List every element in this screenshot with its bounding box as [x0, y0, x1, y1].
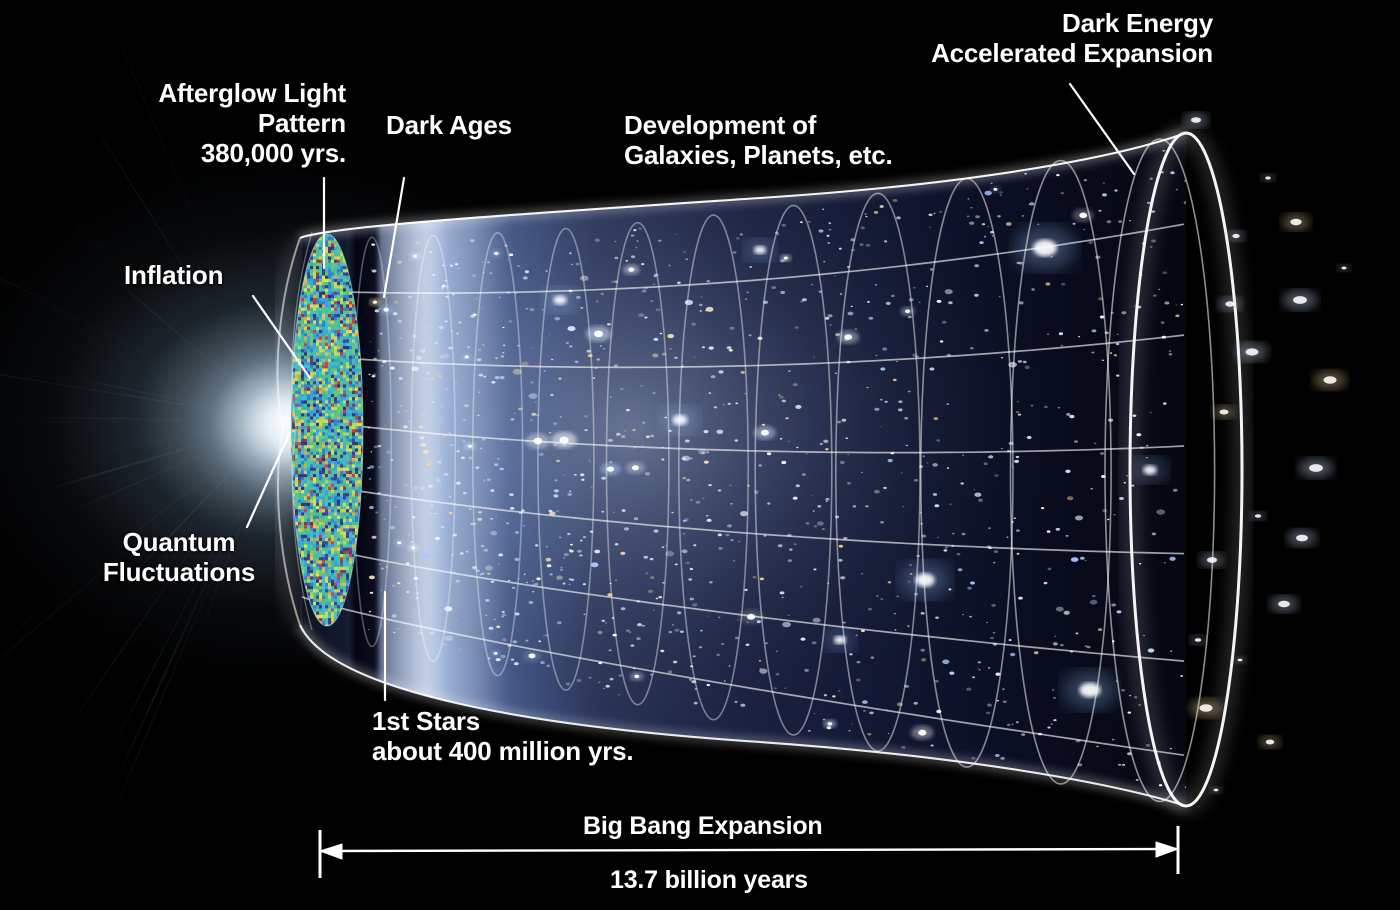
galaxy-speck: [861, 226, 865, 229]
galaxy-speck: [947, 467, 949, 468]
galaxy-speck: [496, 626, 500, 628]
galaxy-speck: [662, 546, 665, 548]
galaxy-speck: [840, 576, 845, 579]
galaxy-speck: [553, 444, 557, 446]
galaxy-speck: [970, 581, 975, 584]
galaxy-speck: [498, 563, 500, 564]
galaxy-speck: [978, 499, 983, 502]
galaxy-speck: [1107, 220, 1112, 223]
galaxy-speck: [675, 234, 677, 235]
galaxy-speck: [814, 568, 817, 570]
cmb-pixel: [292, 580, 295, 584]
galaxy-speck: [1150, 178, 1153, 180]
galaxy-speck: [1091, 488, 1093, 490]
galaxy-speck: [780, 438, 783, 440]
cmb-pixel: [289, 621, 292, 625]
galaxy-speck: [929, 227, 931, 228]
galaxy-speck: [496, 516, 498, 517]
galaxy-speck: [437, 420, 442, 423]
galaxy-speck: [633, 229, 636, 231]
cmb-pixel: [289, 532, 292, 536]
galaxy-speck: [729, 349, 733, 352]
galaxy-speck: [691, 323, 696, 326]
galaxy-speck: [745, 299, 747, 300]
galaxy-speck: [1098, 210, 1101, 212]
galaxy-speck: [397, 582, 400, 584]
galaxy-speck: [746, 621, 748, 622]
galaxy-speck: [693, 544, 696, 546]
galaxy-speck: [423, 450, 429, 454]
galaxy-speck: [549, 573, 552, 575]
universe-timeline-figure: Afterglow Light Pattern 380,000 yrs. Inf…: [0, 0, 1400, 910]
galaxy-speck: [757, 620, 761, 623]
galaxy-speck: [671, 512, 673, 514]
cmb-pixel: [292, 570, 295, 574]
galaxy-speck: [529, 601, 533, 604]
galaxy-speck: [1000, 757, 1005, 760]
galaxy-speck: [535, 544, 538, 546]
galaxy-speck: [962, 455, 964, 456]
galaxy-speck: [392, 585, 395, 587]
galaxy-speck: [814, 525, 818, 527]
galaxy-speck: [993, 632, 996, 634]
galaxy-speck: [893, 379, 897, 381]
galaxy-speck: [506, 522, 509, 524]
galaxy-speck: [857, 661, 861, 663]
outer-galaxy: [1309, 464, 1323, 472]
galaxy-speck: [1152, 533, 1156, 536]
galaxy-speck: [531, 347, 533, 348]
galaxy-speck: [749, 334, 752, 336]
galaxy-speck: [621, 435, 625, 438]
cmb-pixel: [289, 519, 292, 523]
galaxy-speck: [386, 451, 391, 454]
label-development-of-galaxies: Development of Galaxies, Planets, etc.: [624, 110, 893, 170]
galaxy-speck: [896, 361, 898, 362]
galaxy-speck: [999, 296, 1001, 297]
galaxy-speck: [1016, 529, 1020, 531]
galaxy-speck: [460, 552, 464, 555]
galaxy-speck: [1107, 519, 1109, 520]
galaxy-speck: [1139, 563, 1141, 565]
galaxy-speck: [650, 300, 653, 302]
cmb-pixel: [292, 551, 295, 555]
cmb-pixel: [289, 525, 292, 529]
galaxy-speck: [735, 439, 739, 441]
galaxy-speck: [962, 614, 964, 615]
galaxy-speck: [931, 745, 934, 747]
galaxy-speck: [1007, 724, 1010, 726]
galaxy-speck: [856, 635, 858, 636]
galaxy-speck: [1069, 415, 1074, 418]
galaxy-speck: [776, 651, 778, 652]
galaxy-speck: [1122, 764, 1125, 766]
galaxy-speck: [613, 512, 615, 513]
galaxy-speck: [785, 417, 788, 419]
galaxy-speck: [822, 209, 824, 210]
galaxy-speck: [600, 345, 602, 347]
galaxy-speck: [458, 321, 461, 323]
galaxy-speck: [675, 564, 678, 566]
galaxy-speck: [559, 537, 561, 539]
galaxy-speck: [478, 349, 481, 351]
galaxy-speck: [823, 719, 825, 721]
galaxy-speck: [824, 694, 827, 696]
galaxy-speck: [813, 510, 815, 511]
galaxy-speck: [456, 619, 458, 620]
galaxy-speck: [650, 576, 654, 579]
galaxy-speck: [760, 578, 764, 581]
galaxy-speck: [1169, 350, 1171, 352]
galaxy-speck: [969, 222, 974, 225]
galaxy-speck: [690, 457, 693, 459]
galaxy-speck: [984, 329, 988, 332]
galaxy-speck: [1073, 223, 1076, 225]
galaxy-speck: [826, 501, 828, 502]
galaxy-speck: [716, 430, 723, 434]
galaxy-speck: [1019, 301, 1024, 304]
galaxy-speck: [646, 572, 649, 574]
galaxy-speck: [644, 317, 647, 319]
cmb-pixel: [289, 304, 292, 308]
galaxy-speck: [788, 370, 791, 372]
galaxy-speck: [914, 479, 918, 482]
galaxy-speck: [476, 298, 478, 299]
galaxy-speck: [502, 611, 505, 613]
galaxy-speck: [1006, 222, 1012, 226]
galaxy-speck: [556, 460, 560, 462]
galaxy-speck: [856, 679, 861, 682]
galaxy-speck: [652, 283, 655, 285]
galaxy-speck: [682, 456, 690, 461]
galaxy-speck: [436, 477, 440, 479]
galaxy-cluster-core: [754, 246, 766, 254]
galaxy-speck: [556, 576, 563, 580]
galaxy-speck: [558, 378, 561, 380]
galaxy-speck: [637, 623, 642, 626]
galaxy-speck: [462, 440, 465, 442]
cmb-pixel: [292, 279, 295, 283]
galaxy-speck: [1146, 445, 1148, 447]
outer-galaxy: [1341, 267, 1346, 270]
galaxy-core: [397, 541, 401, 544]
galaxy-speck: [969, 616, 972, 618]
galaxy-speck: [489, 627, 494, 630]
galaxy-speck: [442, 547, 444, 548]
galaxy-speck: [699, 304, 703, 306]
galaxy-speck: [511, 418, 515, 420]
galaxy-speck: [560, 567, 563, 569]
galaxy-speck: [381, 568, 384, 570]
galaxy-speck: [566, 683, 571, 686]
galaxy-speck: [636, 637, 640, 640]
galaxy-speck: [849, 730, 851, 731]
galaxy-speck: [921, 649, 925, 652]
cmb-pixel: [289, 327, 292, 331]
galaxy-speck: [650, 558, 654, 560]
galaxy-speck: [502, 638, 506, 641]
galaxy-speck: [1136, 779, 1139, 781]
galaxy-speck: [378, 350, 380, 351]
galaxy-speck: [625, 260, 628, 262]
galaxy-speck: [1184, 201, 1189, 204]
cmb-pixel: [289, 512, 292, 516]
galaxy-speck: [781, 597, 783, 599]
galaxy-speck: [412, 250, 414, 251]
cmb-pixel: [289, 292, 292, 296]
cmb-pixel: [295, 583, 298, 587]
outer-galaxies: [1184, 113, 1351, 794]
galaxy-speck: [800, 586, 803, 588]
galaxy-speck: [1031, 405, 1034, 407]
galaxy-speck: [888, 733, 890, 734]
galaxy-speck: [735, 403, 738, 405]
galaxy-speck: [1180, 675, 1183, 677]
galaxy-speck: [765, 642, 767, 644]
galaxy-speck: [436, 480, 440, 483]
cmb-pixel: [295, 589, 298, 593]
galaxy-speck: [563, 475, 565, 476]
galaxy-speck: [583, 536, 586, 538]
galaxy-speck: [546, 558, 552, 562]
galaxy-speck: [1088, 241, 1093, 244]
galaxy-speck: [482, 262, 484, 263]
galaxy-speck: [1156, 509, 1165, 515]
cmb-pixel: [289, 624, 292, 628]
galaxy-speck: [554, 317, 560, 321]
galaxy-speck: [514, 413, 516, 414]
galaxy-speck: [709, 581, 713, 583]
galaxy-speck: [405, 411, 407, 412]
galaxy-speck: [425, 257, 428, 259]
cmb-pixel: [295, 628, 298, 632]
galaxy-speck: [553, 423, 557, 425]
galaxy-speck: [482, 438, 485, 440]
galaxy-speck: [685, 300, 693, 305]
galaxy-speck: [564, 553, 569, 556]
galaxy-speck: [940, 340, 943, 342]
cmb-pixel: [289, 506, 292, 510]
galaxy-speck: [1061, 192, 1064, 194]
galaxy-speck: [1170, 650, 1172, 651]
galaxy-speck: [767, 452, 771, 455]
galaxy-speck: [933, 493, 937, 496]
galaxy-speck: [1071, 557, 1079, 562]
galaxy-speck: [1044, 406, 1048, 408]
cmb-pixel: [289, 317, 292, 321]
galaxy-cluster-core: [553, 295, 567, 304]
galaxy-speck: [781, 461, 786, 464]
galaxy-speck: [926, 286, 928, 287]
galaxy-speck: [416, 356, 422, 360]
galaxy-speck: [730, 503, 733, 505]
galaxy-speck: [777, 234, 779, 235]
galaxy-speck: [950, 504, 952, 505]
galaxy-speck: [982, 223, 986, 225]
galaxy-speck: [871, 657, 875, 659]
galaxy-speck: [500, 376, 505, 379]
galaxy-speck: [1113, 514, 1115, 515]
galaxy-speck: [704, 461, 709, 464]
galaxy-speck: [1170, 748, 1172, 749]
galaxy-speck: [880, 598, 883, 600]
galaxy-speck: [875, 284, 878, 286]
galaxy-speck: [631, 644, 635, 646]
galaxy-speck: [744, 589, 747, 591]
galaxy-speck: [975, 215, 980, 218]
galaxy-core: [828, 722, 833, 726]
galaxy-speck: [394, 301, 399, 304]
galaxy-speck: [609, 649, 612, 651]
galaxy-speck: [700, 630, 703, 632]
galaxy-speck: [967, 216, 970, 218]
galaxy-speck: [644, 556, 649, 559]
cmb-pixel: [292, 295, 295, 299]
galaxy-speck: [733, 251, 737, 254]
galaxy-speck: [495, 357, 498, 359]
galaxy-speck: [438, 461, 442, 463]
galaxy-speck: [708, 616, 710, 617]
galaxy-speck: [607, 323, 611, 325]
galaxy-speck: [530, 381, 534, 383]
galaxy-speck: [1026, 188, 1028, 189]
galaxy-speck: [1100, 452, 1104, 454]
galaxy-speck: [674, 357, 677, 359]
galaxy-speck: [574, 474, 577, 476]
outer-galaxy: [1278, 601, 1290, 607]
galaxy-speck: [605, 622, 607, 623]
galaxy-speck: [1014, 517, 1017, 519]
galaxy-speck: [461, 456, 465, 459]
galaxy-speck: [653, 610, 655, 611]
galaxy-speck: [435, 537, 440, 540]
galaxy-speck: [584, 415, 587, 417]
galaxy-speck: [1096, 746, 1098, 748]
galaxy-speck: [568, 326, 576, 331]
galaxy-speck: [480, 448, 482, 450]
galaxy-speck: [853, 505, 856, 507]
galaxy-speck: [538, 640, 541, 642]
galaxy-speck: [581, 479, 584, 481]
cmb-pixel: [289, 336, 292, 340]
galaxy-speck: [779, 395, 781, 396]
galaxy-speck: [427, 458, 429, 459]
galaxy-speck: [811, 495, 813, 496]
galaxy-core: [494, 652, 498, 655]
galaxy-speck: [740, 511, 748, 516]
galaxy-speck: [487, 573, 491, 575]
galaxy-speck: [866, 244, 871, 247]
cmb-pixel: [289, 240, 292, 244]
galaxy-speck: [694, 357, 696, 358]
galaxy-speck: [847, 454, 849, 455]
galaxy-speck: [806, 522, 810, 524]
galaxy-speck: [501, 355, 504, 357]
galaxy-speck: [580, 540, 583, 542]
galaxy-speck: [820, 443, 823, 445]
galaxy-speck: [598, 681, 601, 683]
galaxy-speck: [432, 274, 435, 276]
galaxy-speck: [642, 290, 647, 293]
galaxy-core: [784, 257, 788, 260]
galaxy-speck: [509, 320, 512, 322]
galaxy-speck: [539, 453, 544, 456]
galaxy-speck: [437, 499, 439, 500]
galaxy-speck: [517, 265, 520, 267]
cmb-pixel: [289, 535, 292, 539]
galaxy-speck: [839, 545, 843, 548]
galaxy-speck: [702, 346, 705, 348]
galaxy-speck: [449, 512, 453, 514]
galaxy-speck: [1018, 414, 1021, 416]
galaxy-speck: [369, 611, 372, 613]
galaxy-speck: [863, 710, 866, 712]
galaxy-speck: [997, 215, 1001, 217]
galaxy-speck: [557, 621, 562, 624]
galaxy-speck: [523, 525, 525, 526]
galaxy-speck: [502, 614, 506, 617]
galaxy-speck: [652, 392, 655, 394]
galaxy-speck: [1084, 179, 1087, 181]
galaxy-speck: [827, 314, 832, 317]
galaxy-speck: [718, 547, 722, 550]
galaxy-speck: [429, 252, 431, 253]
cmb-pixel: [295, 592, 298, 596]
galaxy-speck: [448, 347, 452, 350]
galaxy-speck: [937, 537, 939, 538]
cmb-pixel: [292, 292, 295, 296]
galaxy-speck: [1006, 537, 1008, 538]
galaxy-speck: [1025, 366, 1030, 369]
galaxy-speck: [840, 293, 842, 294]
galaxy-speck: [1091, 352, 1094, 354]
galaxy-speck: [431, 377, 435, 379]
galaxy-speck: [935, 504, 940, 507]
cmb-pixel: [295, 272, 298, 276]
outer-galaxy: [1214, 789, 1219, 792]
galaxy-speck: [571, 264, 573, 265]
galaxy-speck: [874, 408, 879, 411]
galaxy-speck: [1066, 535, 1069, 537]
galaxy-speck: [908, 316, 912, 318]
galaxy-speck: [372, 536, 377, 539]
galaxy-speck: [1134, 696, 1138, 698]
galaxy-speck: [531, 413, 536, 416]
cmb-pixel: [289, 522, 292, 526]
cmb-pixel: [289, 564, 292, 568]
cmb-pixel: [289, 509, 292, 513]
cmb-pixel: [292, 573, 295, 577]
galaxy-speck: [424, 379, 427, 381]
galaxy-speck: [575, 361, 579, 363]
galaxy-speck: [970, 347, 974, 349]
galaxy-speck: [455, 263, 458, 265]
galaxy-speck: [372, 270, 377, 273]
galaxy-speck: [929, 367, 934, 370]
galaxy-speck: [456, 333, 459, 335]
galaxy-speck: [610, 396, 612, 397]
galaxy-speck: [397, 411, 401, 413]
cmb-pixel: [289, 628, 292, 632]
galaxy-speck: [650, 435, 654, 438]
galaxy-speck: [832, 695, 835, 697]
galaxy-speck: [683, 251, 686, 253]
galaxy-speck: [708, 484, 712, 486]
galaxy-speck: [883, 487, 887, 489]
galaxy-speck: [685, 440, 690, 443]
galaxy-speck: [796, 447, 798, 449]
galaxy-speck: [696, 501, 701, 504]
